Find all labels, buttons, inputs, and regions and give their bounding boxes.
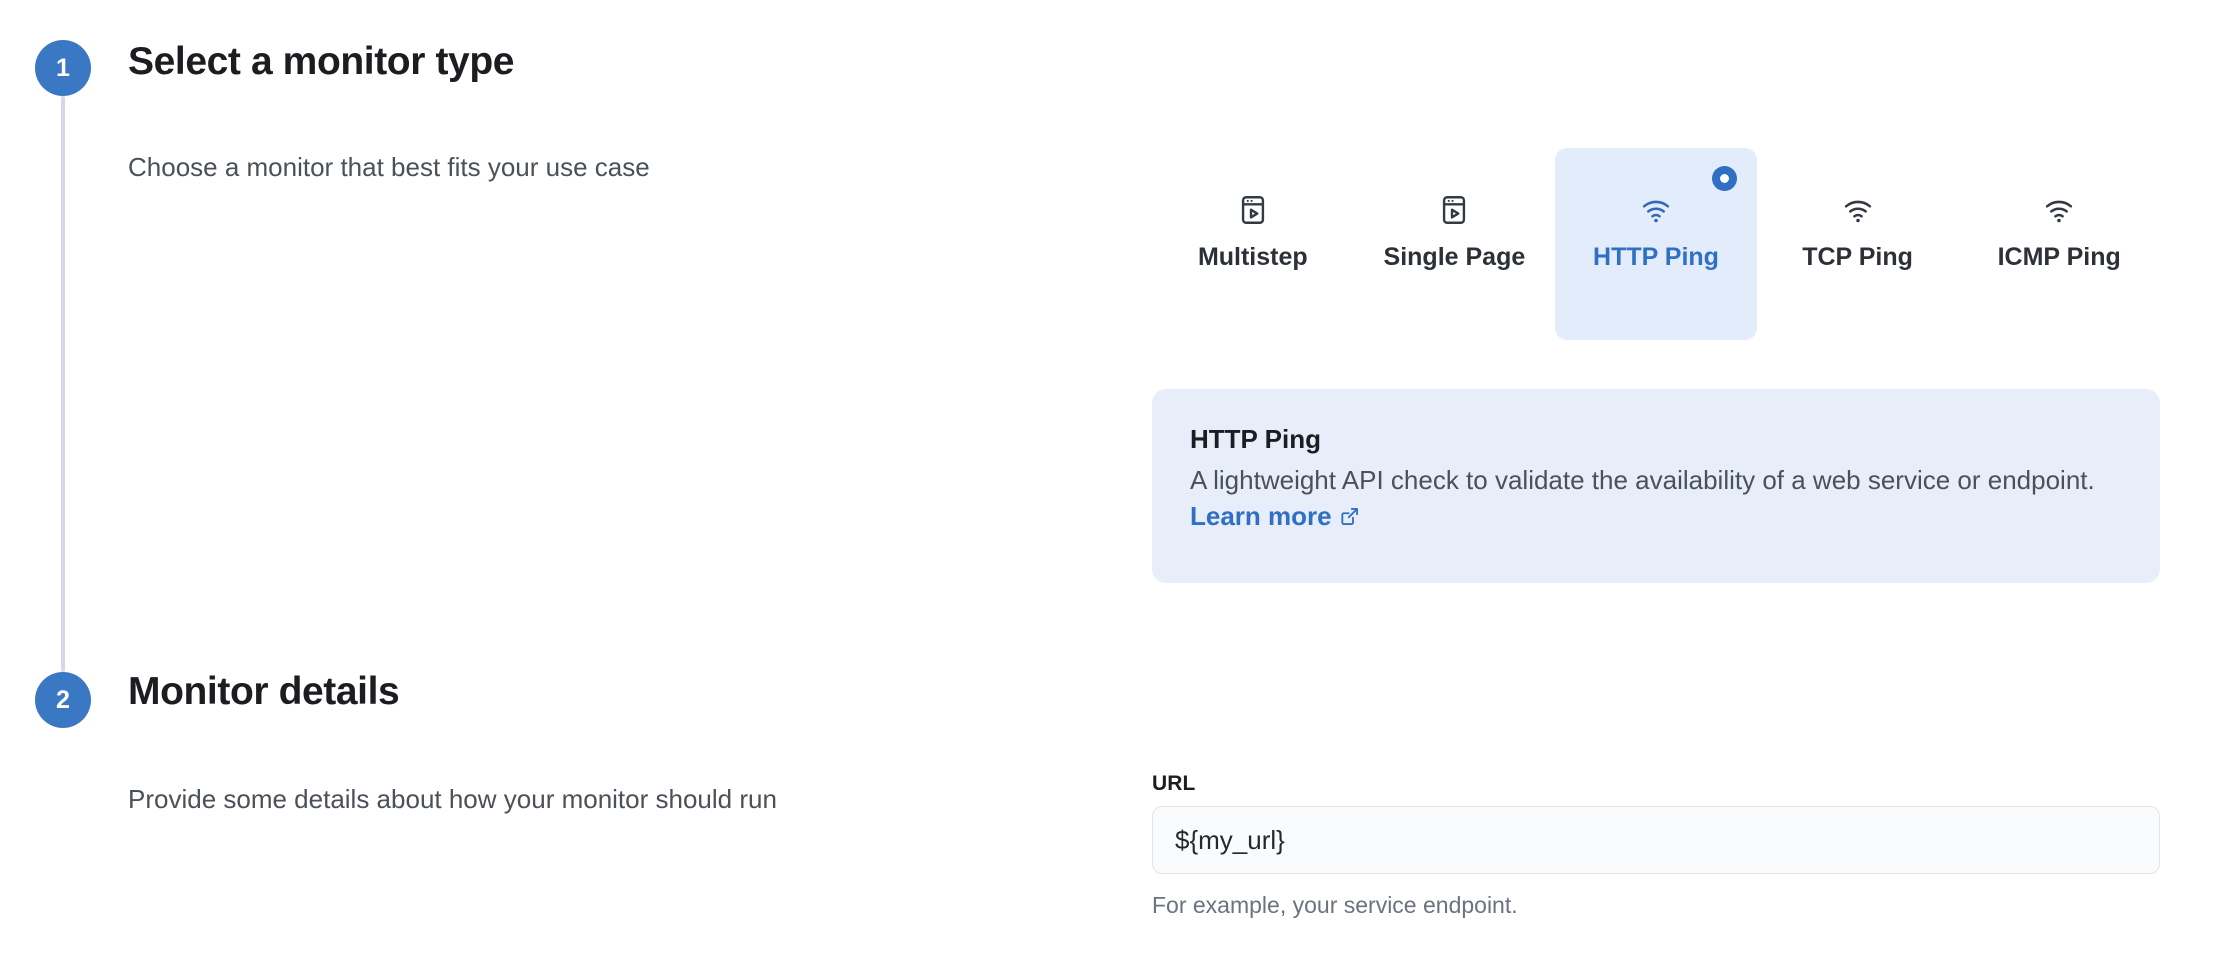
external-link-icon xyxy=(1339,500,1360,521)
learn-more-link[interactable]: Learn more xyxy=(1190,501,1360,531)
wifi-icon xyxy=(2041,192,2077,228)
monitor-type-label-multistep: Multistep xyxy=(1198,244,1308,272)
info-panel-title: HTTP Ping xyxy=(1190,423,2120,456)
step-1-description: Choose a monitor that best fits your use… xyxy=(128,152,650,183)
wifi-icon xyxy=(1840,192,1876,228)
browser-play-icon xyxy=(1436,192,1472,228)
monitor-type-label-http-ping: HTTP Ping xyxy=(1593,244,1719,272)
browser-play-icon xyxy=(1235,192,1271,228)
monitor-type-tile-http-ping[interactable]: HTTP Ping xyxy=(1555,148,1757,340)
monitor-type-selector: Multistep Single Page xyxy=(1152,148,2160,340)
url-field-help-text: For example, your service endpoint. xyxy=(1152,892,1518,919)
step-1-title: Select a monitor type xyxy=(128,40,514,84)
monitor-type-label-tcp-ping: TCP Ping xyxy=(1802,244,1913,272)
step-2-description: Provide some details about how your moni… xyxy=(128,784,777,815)
monitor-type-label-icmp-ping: ICMP Ping xyxy=(1998,244,2121,272)
step-connector-line xyxy=(61,96,65,672)
monitor-type-tile-tcp-ping[interactable]: TCP Ping xyxy=(1757,148,1959,340)
info-panel-body: A lightweight API check to validate the … xyxy=(1190,462,2120,536)
step-indicator-2: 2 xyxy=(35,672,91,728)
monitor-type-tile-single-page[interactable]: Single Page xyxy=(1354,148,1556,340)
learn-more-label: Learn more xyxy=(1190,501,1332,531)
monitor-type-label-single-page: Single Page xyxy=(1384,244,1526,272)
monitor-type-tile-multistep[interactable]: Multistep xyxy=(1152,148,1354,340)
step-number-1: 1 xyxy=(56,56,70,81)
url-field-label: URL xyxy=(1152,772,1195,796)
step-indicator-1: 1 xyxy=(35,40,91,96)
monitor-type-info-panel: HTTP Ping A lightweight API check to val… xyxy=(1152,389,2160,583)
wifi-icon xyxy=(1638,192,1674,228)
url-input[interactable] xyxy=(1152,806,2160,874)
step-2-title: Monitor details xyxy=(128,670,399,714)
monitor-type-tile-icmp-ping[interactable]: ICMP Ping xyxy=(1958,148,2160,340)
radio-selected-indicator[interactable] xyxy=(1712,166,1737,191)
info-panel-description: A lightweight API check to validate the … xyxy=(1190,465,2095,495)
step-number-2: 2 xyxy=(56,688,70,713)
monitor-creation-wizard: 1 Select a monitor type Choose a monitor… xyxy=(0,0,2218,958)
